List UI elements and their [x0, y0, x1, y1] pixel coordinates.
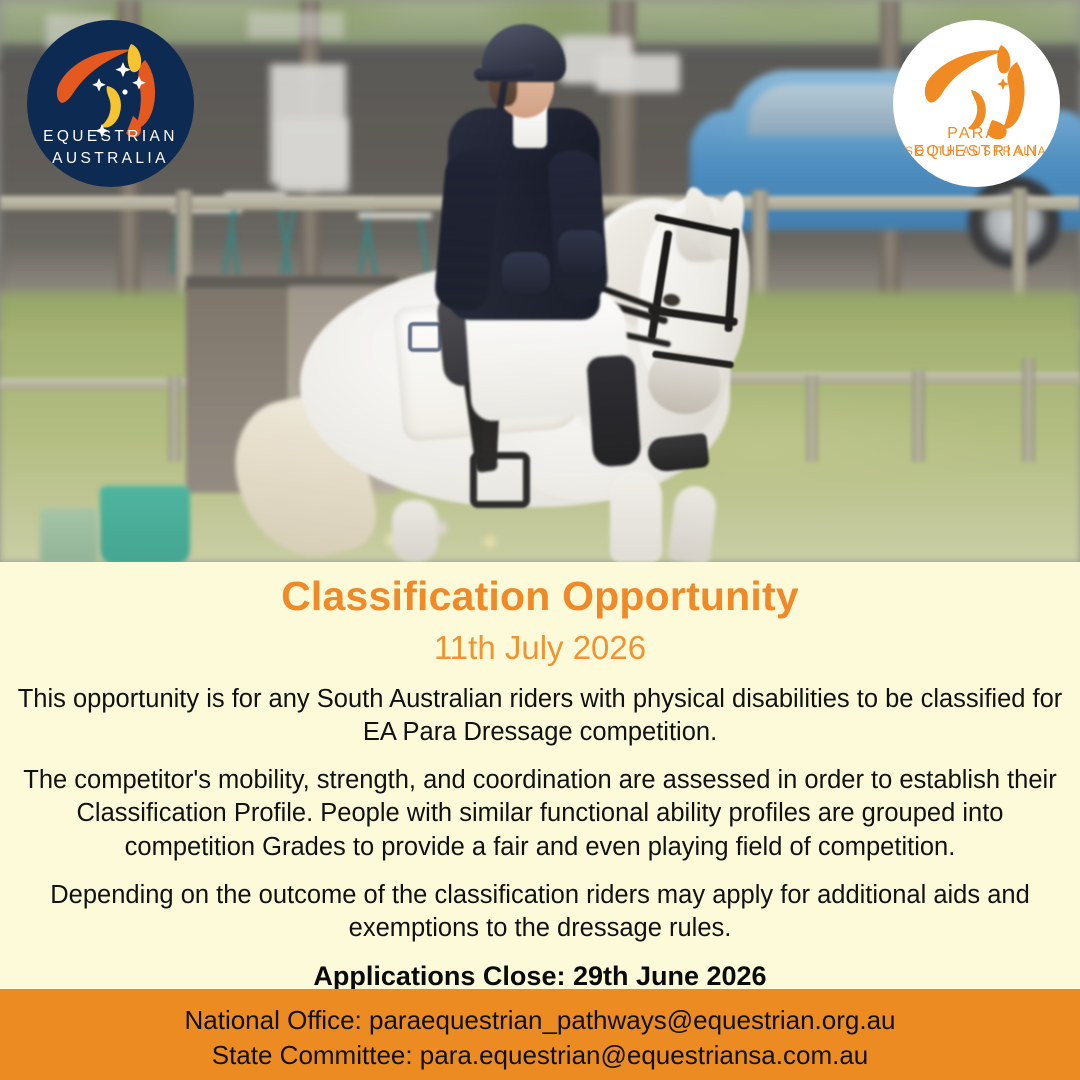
event-date: 11th July 2026: [0, 620, 1080, 667]
rider-glove: [502, 252, 550, 294]
rider-arm: [547, 148, 609, 301]
ea-logo-line-2: AUSTRALIA: [27, 148, 194, 170]
paragraph-3: Depending on the outcome of the classifi…: [10, 864, 1070, 945]
applications-close-notice: Applications Close: 29th June 2026: [0, 945, 1080, 992]
horse-head-icon: [893, 20, 1060, 187]
rider-glove: [558, 230, 604, 274]
page-title: Classification Opportunity: [0, 562, 1080, 620]
equestrian-australia-logo: EQUESTRIAN AUSTRALIA: [27, 20, 194, 187]
content-panel: Classification Opportunity 11th July 202…: [0, 562, 1080, 989]
pe-logo-line-2: SOUTH AUSTRALIA: [893, 146, 1060, 158]
national-office-contact[interactable]: National Office: paraequestrian_pathways…: [0, 989, 1080, 1038]
para-equestrian-south-australia-logo: PARA-EQUESTRIAN SOUTH AUSTRALIA: [893, 20, 1060, 187]
paragraph-1: This opportunity is for any South Austra…: [5, 667, 1075, 749]
state-committee-contact[interactable]: State Committee: para.equestrian@equestr…: [0, 1038, 1080, 1073]
paragraph-2: The competitor's mobility, strength, and…: [10, 749, 1070, 863]
contact-footer: National Office: paraequestrian_pathways…: [0, 989, 1080, 1080]
poster-flyer: EQUESTRIAN AUSTRALIA PARA-EQUESTRIAN SOU…: [0, 0, 1080, 1080]
rider-riding-boot: [586, 354, 642, 467]
ea-logo-line-1: EQUESTRIAN: [27, 126, 194, 148]
